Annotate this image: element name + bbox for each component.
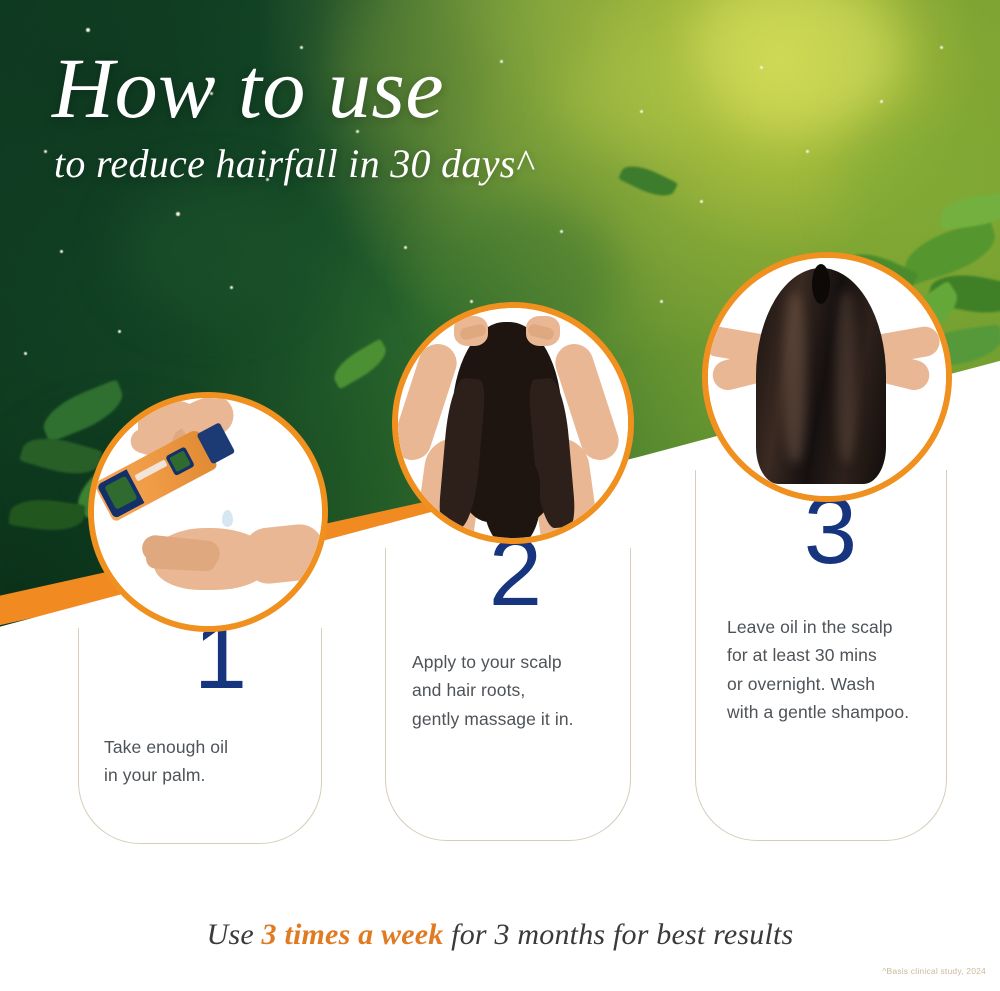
step-image-1-hand-pouring-oil [88, 392, 328, 632]
step-image-2-scalp-massage [392, 302, 634, 544]
sparkle [640, 110, 643, 113]
sparkle [806, 150, 809, 153]
poster: How to use to reduce hairfall in 30 days… [0, 0, 1000, 991]
wrist-lower [241, 522, 322, 586]
page-subtitle: to reduce hairfall in 30 days^ [54, 144, 533, 184]
sparkle [404, 246, 407, 249]
sparkle [24, 352, 27, 355]
footer-suffix: for 3 months for best results [443, 918, 793, 951]
footer-tagline: Use 3 times a week for 3 months for best… [0, 918, 1000, 952]
sparkle [60, 250, 63, 253]
sparkle [880, 100, 883, 103]
bokeh-blob [560, 40, 710, 150]
sparkle [500, 60, 503, 63]
sparkle [230, 286, 233, 289]
finger [146, 548, 217, 572]
sparkle [86, 28, 90, 32]
page-title: How to use [52, 47, 444, 130]
sparkle [44, 150, 47, 153]
footer-highlight: 3 times a week [262, 918, 444, 951]
step-image-3-healthy-hair [702, 252, 952, 502]
step-text-3: Leave oil in the scalp for at least 30 m… [727, 613, 962, 726]
disclaimer-text: ^Basis clinical study, 2024 [882, 966, 986, 976]
step-text-1: Take enough oil in your palm. [104, 733, 334, 790]
sparkle [470, 300, 473, 303]
photo-scalp-massage [398, 308, 628, 538]
sparkle [760, 66, 763, 69]
oil-drop [222, 510, 233, 527]
photo-healthy-hair [708, 258, 946, 496]
photo-hand-pouring-oil [94, 398, 322, 626]
sparkle [560, 230, 563, 233]
sparkle [700, 200, 703, 203]
hair-tail [484, 458, 540, 538]
sparkle [660, 300, 663, 303]
footer-prefix: Use [207, 918, 262, 951]
hair-part [812, 264, 830, 304]
sparkle [118, 330, 121, 333]
bokeh-blob [120, 180, 300, 320]
sparkle [176, 212, 180, 216]
hair-shine [836, 292, 856, 462]
hair-shine [784, 292, 806, 462]
sparkle [940, 46, 943, 49]
step-text-2: Apply to your scalp and hair roots, gent… [412, 648, 644, 733]
